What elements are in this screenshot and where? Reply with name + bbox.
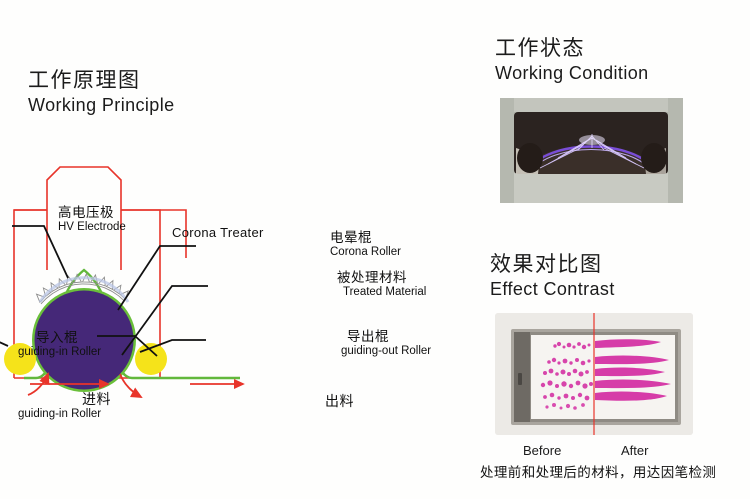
leader-guiding-in-roller (0, 336, 8, 346)
effect-contrast-photo (495, 313, 693, 435)
label-feed-out: 出料 (325, 393, 354, 410)
corona-center-glow (579, 135, 605, 145)
tray-button (518, 373, 522, 385)
leader-guiding-in-roller-outer (95, 330, 165, 360)
label-guiding-in-roller: 导入棍 guiding-in Roller (18, 330, 101, 359)
label-treated-material-cn: 被处理材料 (337, 270, 426, 286)
label-guiding-out-roller: 导出棍 guiding-out Roller (341, 329, 431, 358)
label-feed-out-cn: 出料 (325, 393, 354, 410)
heading-condition-cn: 工作状态 (495, 36, 649, 62)
label-guiding-in-roller-cn: 导入棍 (18, 330, 101, 346)
leader-corona-roller (118, 246, 196, 310)
heading-condition-en: Working Condition (495, 62, 649, 85)
machine-left-panel (500, 98, 514, 203)
caption-effect-contrast: 处理前和处理后的材料，用达因笔检测 (480, 465, 716, 481)
label-feed-in-cn: 进料 (70, 391, 111, 408)
end-roller-left (517, 143, 543, 173)
label-corona-treater: Corona Treater (172, 225, 264, 240)
label-feed-in-en: guiding-in Roller (18, 408, 111, 422)
heading-principle-cn: 工作原理图 (28, 68, 175, 94)
machine-right-panel (668, 98, 683, 203)
label-hv-electrode-cn: 高电压极 (58, 205, 126, 221)
caption-after: After (621, 443, 648, 458)
label-guiding-out-roller-cn: 导出棍 (341, 329, 431, 345)
treater-hood-outline (47, 167, 121, 210)
caption-before: Before (523, 443, 561, 458)
infographic-page: 工作原理图 Working Principle 工作状态 Working Con… (0, 0, 750, 499)
label-guiding-in-roller-en: guiding-in Roller (18, 346, 101, 360)
label-hv-electrode: 高电压极 HV Electrode (58, 205, 126, 234)
label-treated-material: 被处理材料 Treated Material (337, 270, 426, 299)
heading-effect-cn: 效果对比图 (490, 252, 615, 278)
label-corona-roller-en: Corona Roller (330, 246, 401, 260)
label-corona-roller-cn: 电晕棍 (330, 230, 401, 246)
label-corona-roller: 电晕棍 Corona Roller (330, 230, 401, 259)
label-treated-material-en: Treated Material (337, 286, 426, 300)
end-roller-right (641, 143, 667, 173)
section-heading-effect-contrast: 效果对比图 Effect Contrast (490, 252, 615, 302)
working-condition-photo (500, 98, 683, 203)
machine-bottom-panel (500, 173, 683, 203)
section-heading-working-condition: 工作状态 Working Condition (495, 36, 649, 86)
heading-effect-en: Effect Contrast (490, 278, 615, 301)
label-guiding-out-roller-en: guiding-out Roller (341, 345, 431, 359)
heading-principle-en: Working Principle (28, 94, 175, 117)
label-feed-in: 进料 guiding-in Roller (70, 391, 111, 421)
section-heading-working-principle: 工作原理图 Working Principle (28, 68, 175, 118)
machine-top-panel (500, 98, 683, 112)
label-hv-electrode-en: HV Electrode (58, 221, 126, 235)
